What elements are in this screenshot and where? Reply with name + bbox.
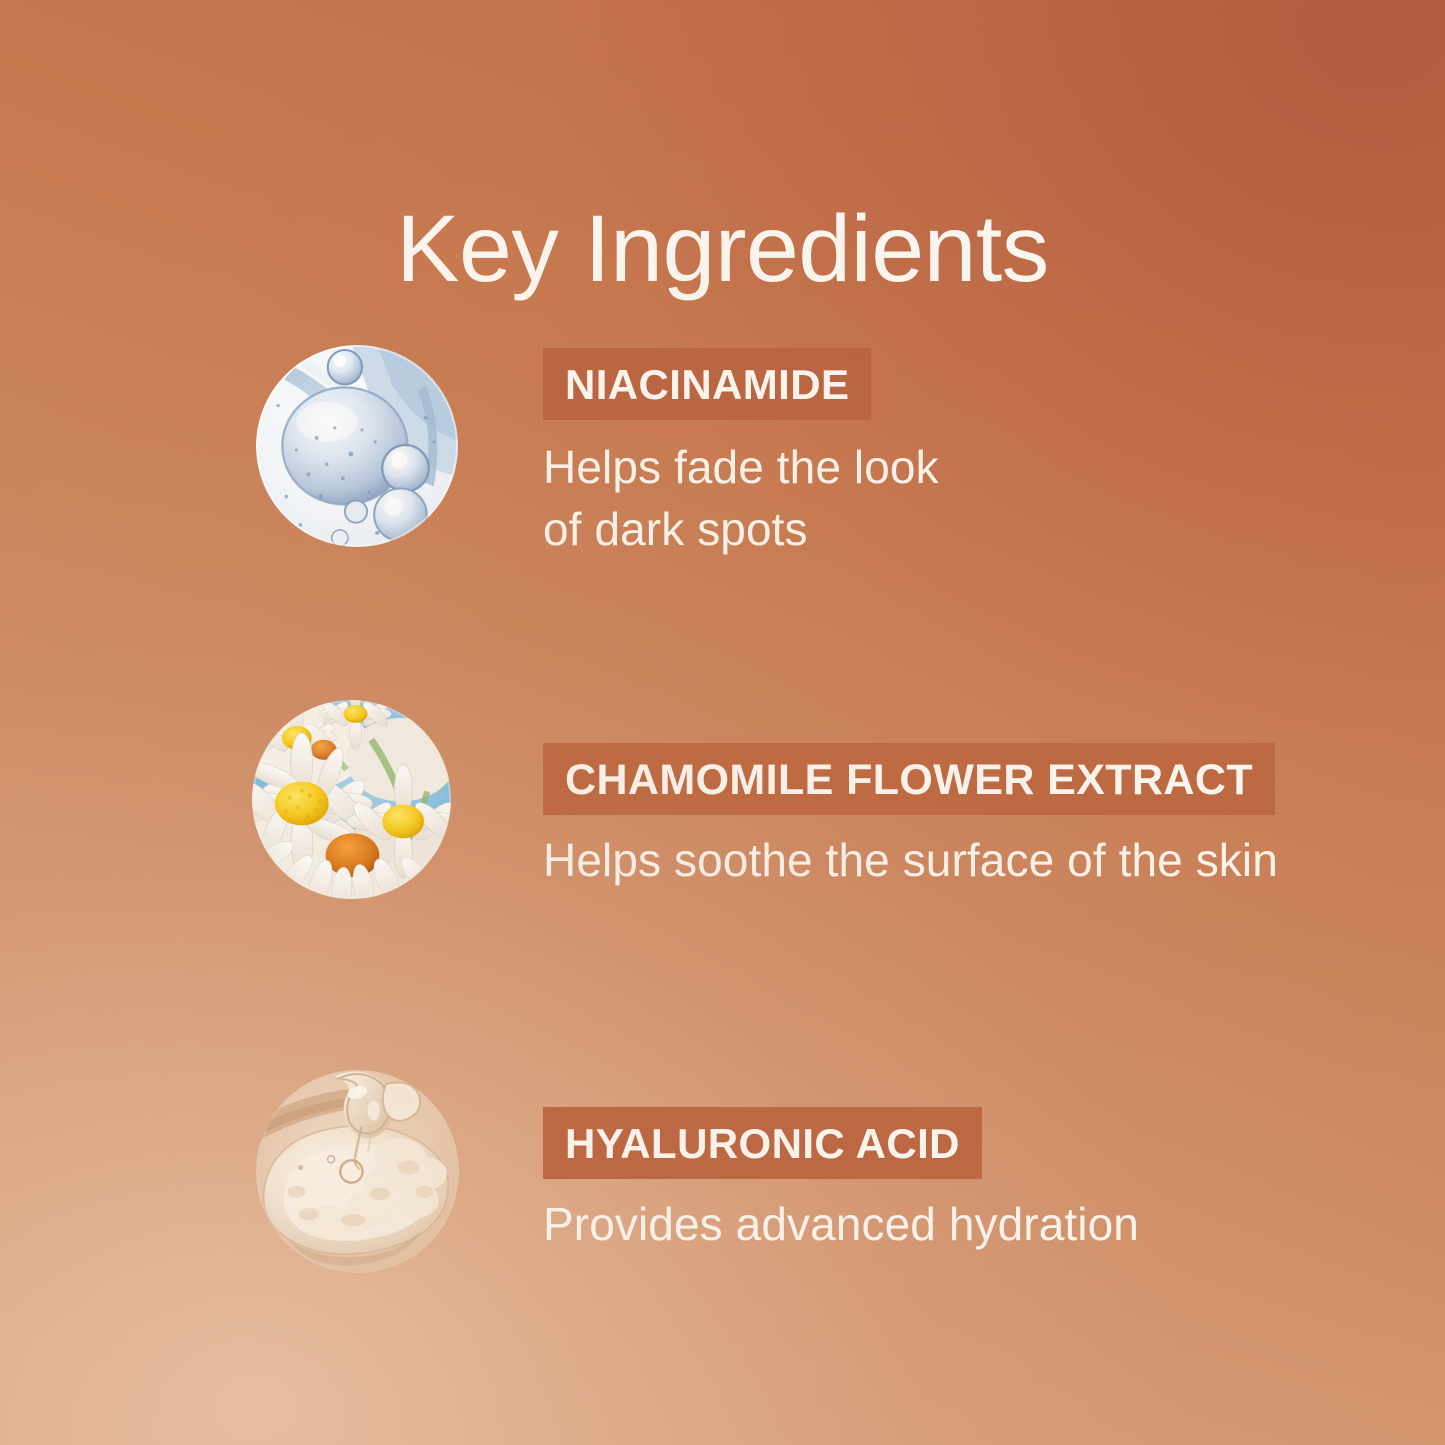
clear-serum-droplet-photo [256, 1070, 459, 1273]
ingredient-description: Helps fade the look of dark spots [543, 436, 1405, 560]
ingredient-text-chamomile: CHAMOMILE FLOWER EXTRACT Helps soothe th… [543, 743, 1405, 891]
ingredient-name-badge: NIACINAMIDE [543, 348, 871, 420]
blue-gel-bubbles-photo [256, 345, 458, 547]
ingredient-text-hyaluronic-acid: HYALURONIC ACID Provides advanced hydrat… [543, 1107, 1405, 1255]
chamomile-flowers-photo [252, 700, 451, 899]
ingredient-description: Provides advanced hydration [543, 1193, 1405, 1255]
ingredient-row-hyaluronic-acid: HYALURONIC ACID Provides advanced hydrat… [0, 1065, 1445, 1285]
description-line: Helps fade the look [543, 436, 1405, 498]
ingredient-row-niacinamide: NIACINAMIDE Helps fade the look of dark … [0, 340, 1445, 560]
description-line: Helps soothe the surface of the skin [543, 829, 1405, 891]
ingredient-text-niacinamide: NIACINAMIDE Helps fade the look of dark … [543, 348, 1405, 560]
page-title: Key Ingredients [0, 195, 1445, 303]
ingredient-row-chamomile: CHAMOMILE FLOWER EXTRACT Helps soothe th… [0, 695, 1445, 915]
description-line: of dark spots [543, 498, 1405, 560]
ingredient-description: Helps soothe the surface of the skin [543, 829, 1405, 891]
ingredient-name-badge: CHAMOMILE FLOWER EXTRACT [543, 743, 1275, 815]
key-ingredients-infographic: Key Ingredients [0, 0, 1445, 1445]
ingredient-name-badge: HYALURONIC ACID [543, 1107, 982, 1179]
description-line: Provides advanced hydration [543, 1193, 1405, 1255]
